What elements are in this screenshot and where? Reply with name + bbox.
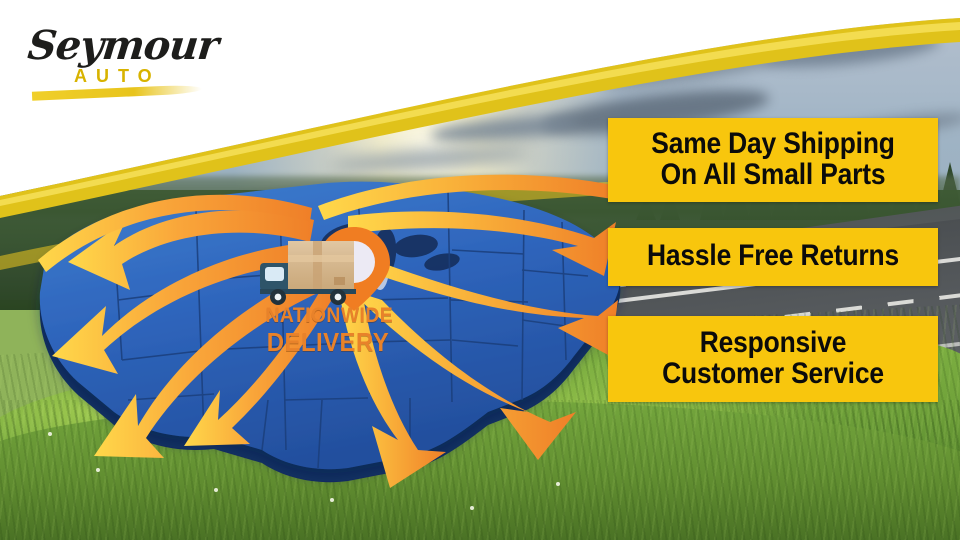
delivery-truck-icon	[260, 241, 356, 305]
brand-logo[interactable]: Seymour AUTO	[22, 14, 252, 104]
banner-line: Same Day Shipping	[635, 128, 911, 159]
banner-line: Hassle Free Returns	[635, 240, 911, 271]
banner-line: Customer Service	[635, 358, 911, 389]
feature-banner-shipping[interactable]: Same Day Shipping On All Small Parts	[608, 118, 938, 202]
feature-banner-list: Same Day Shipping On All Small Parts Has…	[608, 118, 938, 402]
flower	[470, 506, 474, 510]
delivery-label-line2: DELIVERY	[265, 329, 390, 355]
flower	[330, 498, 334, 502]
feature-banner-service[interactable]: Responsive Customer Service	[608, 316, 938, 402]
delivery-label-line1: NATIONWIDE	[265, 305, 390, 326]
nationwide-delivery-badge: NATIONWIDE DELIVERY	[258, 225, 418, 365]
banner-line: Responsive	[635, 327, 911, 358]
banner-line: On All Small Parts	[635, 159, 911, 190]
promo-banner-stage: Seymour AUTO	[0, 0, 960, 540]
feature-banner-returns[interactable]: Hassle Free Returns	[608, 228, 938, 285]
brand-name: Seymour	[26, 22, 221, 69]
brand-subtitle: AUTO	[74, 66, 161, 87]
delivery-label: NATIONWIDE DELIVERY	[260, 305, 396, 355]
